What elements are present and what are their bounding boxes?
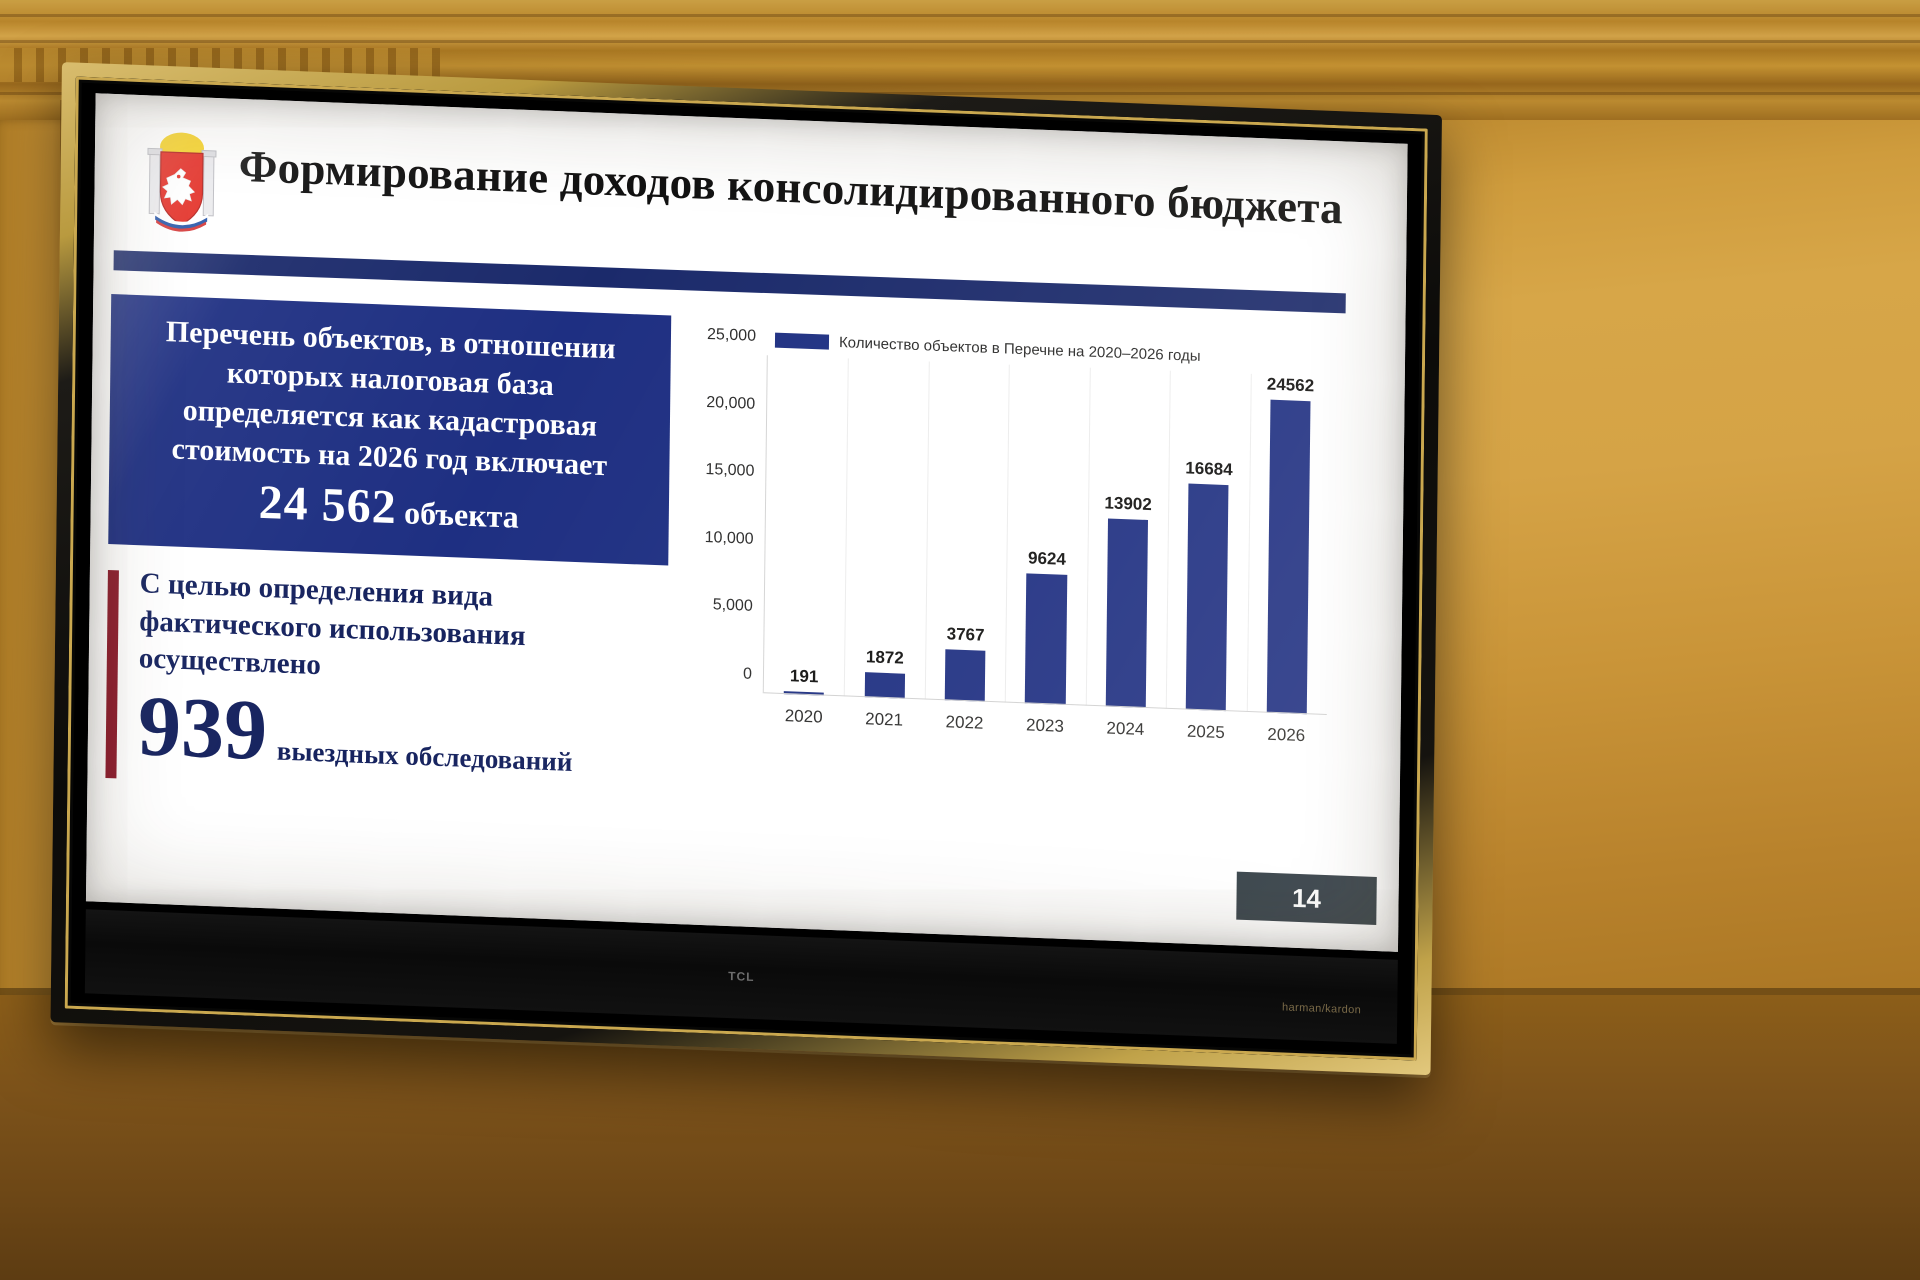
- inspection-count-caption: выездных обследований: [277, 736, 573, 778]
- tcl-brand-logo: TCL: [728, 969, 754, 984]
- y-axis-tick-label: 10,000: [705, 529, 754, 549]
- harman-kardon-logo: harman/kardon: [1282, 1001, 1361, 1016]
- bar-value-label: 1872: [866, 647, 904, 668]
- cornice-line: [0, 14, 1920, 17]
- x-axis-tick-label: 2024: [1106, 719, 1144, 740]
- y-axis-tick-label: 5,000: [713, 597, 753, 617]
- x-axis-tick-label: 2026: [1267, 725, 1305, 746]
- chart-bar-group: 139022024: [1106, 368, 1150, 708]
- tv-bezel: Формирование доходов консолидированного …: [50, 62, 1442, 1075]
- chart-bar-group: 245622026: [1266, 375, 1310, 715]
- chart-gridline: [925, 361, 930, 699]
- bar-value-label: 13902: [1104, 493, 1152, 515]
- chart-plot-area: 05,00010,00015,00020,00025,000 191202018…: [763, 355, 1331, 715]
- callout-number: 24 562: [258, 476, 397, 534]
- note-text: С целью определения вида фактического ис…: [139, 565, 668, 698]
- chart-bar-group: 18722021: [864, 359, 908, 699]
- bar-value-label: 16684: [1185, 459, 1233, 481]
- y-axis-tick-label: 0: [743, 665, 752, 683]
- chart-bar: [945, 649, 986, 701]
- chart-gridline: [1166, 371, 1171, 709]
- legend-color-swatch: [775, 333, 829, 350]
- chart-bar: [1266, 400, 1310, 715]
- page-title: Формирование доходов консолидированного …: [239, 143, 1382, 234]
- callout-unit: объекта: [404, 494, 519, 534]
- chart-bar: [1106, 519, 1148, 709]
- x-axis-tick-label: 2025: [1187, 722, 1225, 743]
- chart-gridline: [844, 358, 849, 696]
- x-axis-tick-label: 2020: [785, 706, 823, 727]
- bar-value-label: 24562: [1267, 375, 1315, 397]
- chart-bar: [1186, 484, 1229, 711]
- chart-bar-group: 96242023: [1025, 365, 1069, 705]
- y-axis-tick-label: 25,000: [707, 326, 756, 346]
- accent-bar: [105, 570, 118, 778]
- y-axis-tick-label: 20,000: [706, 394, 755, 414]
- chart-gridline: [1085, 368, 1090, 706]
- x-axis-tick-label: 2021: [865, 709, 903, 730]
- presentation-slide: Формирование доходов консолидированного …: [86, 93, 1408, 952]
- x-axis-tick-label: 2022: [946, 712, 984, 733]
- chart-bar-group: 1912020: [784, 356, 828, 696]
- crimea-coat-of-arms-icon: [142, 129, 221, 240]
- television: Формирование доходов консолидированного …: [50, 62, 1442, 1075]
- cornice-line: [0, 40, 1920, 43]
- bar-value-label: 9624: [1028, 548, 1066, 569]
- tv-screen: Формирование доходов консолидированного …: [86, 93, 1408, 952]
- chart-bar-group: 37672022: [945, 362, 989, 702]
- tv-inner-frame: Формирование доходов консолидированного …: [65, 77, 1428, 1061]
- chart-bar: [864, 672, 905, 699]
- slide-header: Формирование доходов консолидированного …: [93, 111, 1407, 332]
- bar-value-label: 3767: [947, 624, 985, 645]
- inspection-count: 939 выездных обследований: [138, 685, 574, 783]
- callout-box-objects: Перечень объектов, в отношении которых н…: [108, 294, 671, 566]
- slide-number-badge: 14: [1236, 872, 1377, 925]
- note-line-3: осуществлено: [139, 643, 321, 682]
- chart-bar: [1025, 573, 1067, 705]
- bar-chart: Количество объектов в Перечне на 2020–20…: [678, 328, 1331, 773]
- callout-line-2: которых налоговая база: [227, 356, 554, 402]
- callout-text: Перечень объектов, в отношении которых н…: [164, 312, 616, 548]
- inspection-count-number: 939: [138, 685, 268, 772]
- chart-bar-group: 166842025: [1186, 372, 1230, 712]
- x-axis-tick-label: 2023: [1026, 715, 1064, 736]
- chart-gridline: [1005, 365, 1010, 703]
- note-block-inspections: С целью определения вида фактического ис…: [105, 564, 668, 811]
- chart-gridline: [1246, 374, 1251, 712]
- bar-value-label: 191: [790, 666, 819, 687]
- y-axis-tick-label: 15,000: [705, 461, 754, 481]
